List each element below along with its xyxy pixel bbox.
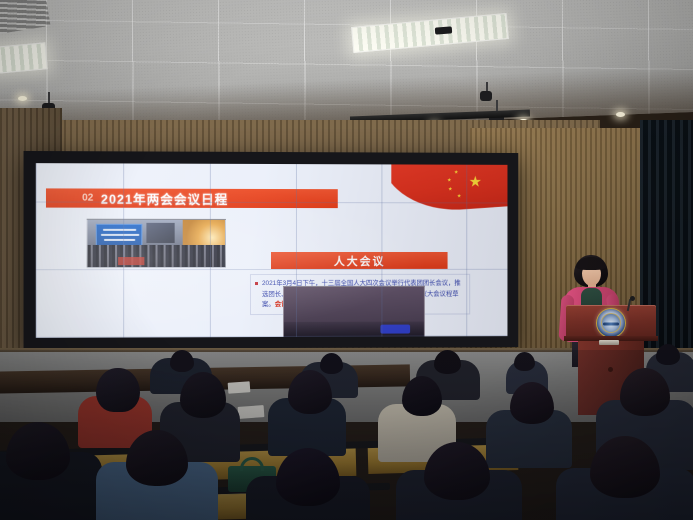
presenter-fringe — [576, 257, 606, 270]
attendee-head — [6, 422, 70, 480]
attendee-head — [434, 350, 461, 374]
conference-hall-photo — [87, 219, 226, 268]
auditorium-scene: ★ ★ ★ ★ ★ 02 2021年两会会议日程 — [0, 0, 693, 520]
handout-paper — [228, 381, 251, 394]
presentation-slide: ★ ★ ★ ★ ★ 02 2021年两会会议日程 — [36, 163, 508, 338]
microphone-head — [630, 296, 635, 301]
attendee-head — [96, 368, 140, 412]
flag-star-small: ★ — [454, 171, 458, 176]
attendee-head — [320, 353, 343, 374]
flag-star-large: ★ — [469, 175, 482, 190]
ceiling-speaker-box — [435, 26, 452, 34]
lectern-nameplate — [599, 340, 619, 345]
led-video-wall: ★ ★ ★ ★ ★ 02 2021年两会会议日程 — [24, 151, 519, 349]
section-heading-renda: 人大会议 — [271, 252, 448, 269]
attendee-head — [656, 344, 680, 365]
downlight — [18, 96, 27, 101]
attendee-head — [514, 352, 535, 371]
flag-star-small: ★ — [447, 179, 451, 184]
institution-seal-icon — [596, 308, 626, 338]
china-flag: ★ ★ ★ ★ ★ — [391, 164, 507, 218]
slide-title: 2021年两会会议日程 — [101, 189, 228, 208]
bullet-marker — [255, 282, 258, 285]
lectern-knob — [608, 367, 613, 372]
delegates-crowd-photo — [283, 286, 425, 338]
suspended-ceiling — [0, 0, 693, 140]
slide-title-bar: 02 2021年两会会议日程 — [46, 188, 338, 208]
slide-number-badge: 02 — [74, 188, 100, 207]
projection-screen: ★ ★ ★ ★ ★ 02 2021年两会会议日程 — [36, 163, 508, 338]
downlight — [616, 112, 625, 117]
flag-star-small: ★ — [457, 194, 461, 199]
flag-star-small: ★ — [448, 187, 452, 192]
attendee-head — [170, 350, 194, 372]
handout-paper — [238, 405, 265, 419]
